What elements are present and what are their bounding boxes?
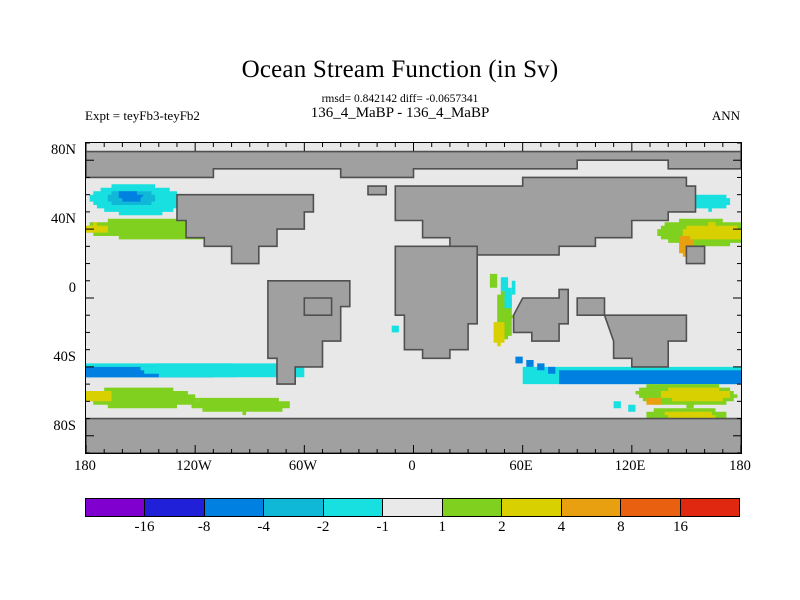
map-plot-area bbox=[85, 142, 742, 454]
colorbar-tick-label: 1 bbox=[417, 519, 467, 536]
page-title: Ocean Stream Function (in Sv) bbox=[0, 56, 800, 84]
y-tick-label: 80S bbox=[30, 418, 76, 435]
colorbar-cell-0 bbox=[86, 499, 144, 516]
colorbar-cell-4 bbox=[323, 499, 382, 516]
colorbar-cell-1 bbox=[144, 499, 203, 516]
colorbar-cell-8 bbox=[561, 499, 620, 516]
y-tick-label: 80N bbox=[30, 142, 76, 159]
y-tick-label: 40S bbox=[30, 349, 76, 366]
x-tick-label: 120E bbox=[600, 458, 660, 475]
x-tick-label: 180 bbox=[710, 458, 770, 475]
x-tick-label: 60E bbox=[491, 458, 551, 475]
colorbar-tick-label: -2 bbox=[298, 519, 348, 536]
colorbar-cell-9 bbox=[620, 499, 679, 516]
colorbar-cell-10 bbox=[680, 499, 739, 516]
y-tick-label: 40N bbox=[30, 211, 76, 228]
land-layer bbox=[86, 152, 741, 453]
figure-canvas: Ocean Stream Function (in Sv) rmsd= 0.84… bbox=[0, 0, 800, 600]
colorbar-cell-5 bbox=[382, 499, 441, 516]
season-label: ANN bbox=[0, 108, 740, 124]
colorbar-cell-2 bbox=[204, 499, 263, 516]
x-tick-label: 120W bbox=[164, 458, 224, 475]
colorbar-tick-label: 2 bbox=[477, 519, 527, 536]
colorbar-tick-label: -8 bbox=[179, 519, 229, 536]
colorbar-tick-label: 16 bbox=[655, 519, 705, 536]
x-tick-label: 180 bbox=[55, 458, 115, 475]
x-tick-label: 60W bbox=[273, 458, 333, 475]
y-tick-label: 0 bbox=[30, 280, 76, 297]
colorbar-tick-label: -1 bbox=[358, 519, 408, 536]
colorbar-tick-label: 8 bbox=[596, 519, 646, 536]
colorbar-cell-3 bbox=[263, 499, 322, 516]
colorbar-tick-label: -16 bbox=[120, 519, 170, 536]
colorbar[interactable] bbox=[85, 498, 740, 517]
colorbar-cell-6 bbox=[442, 499, 501, 516]
colorbar-tick-label: -4 bbox=[239, 519, 289, 536]
colorbar-cell-7 bbox=[501, 499, 560, 516]
stats-annotation: rmsd= 0.842142 diff= -0.0657341 bbox=[0, 93, 800, 105]
colorbar-tick-label: 4 bbox=[536, 519, 586, 536]
x-tick-label: 0 bbox=[382, 458, 442, 475]
map-contour-canvas bbox=[86, 143, 741, 453]
